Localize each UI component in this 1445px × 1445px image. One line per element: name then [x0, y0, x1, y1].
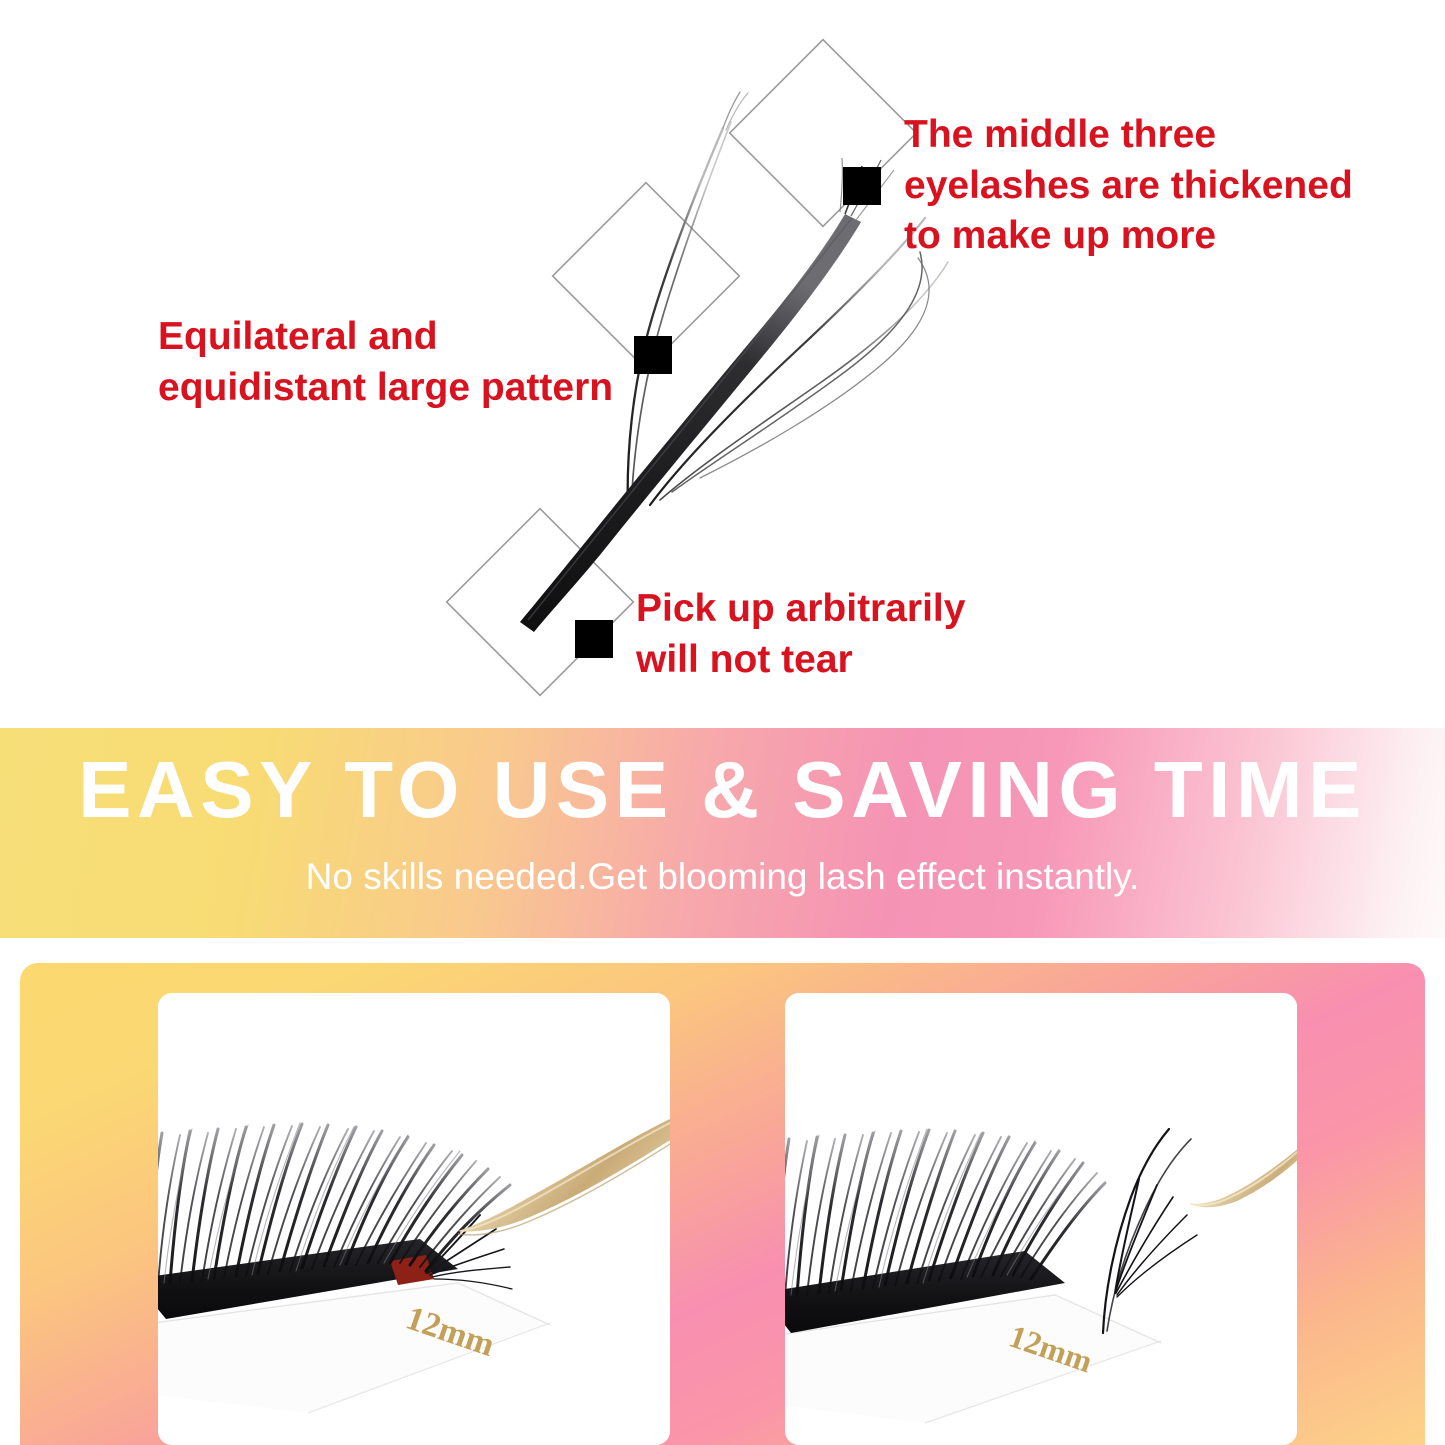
callout-line: Equilateral and: [158, 312, 613, 363]
diamond-outline-icon-top: [730, 40, 917, 227]
banner-subheadline: No skills needed.Get blooming lash effec…: [0, 858, 1445, 895]
callout-line: to make up more: [904, 211, 1353, 262]
callout-line: eyelashes are thickened: [904, 161, 1353, 212]
lash-strip-photo-right: 12mm: [785, 993, 1297, 1445]
callout-line: Pick up arbitrarily: [636, 584, 965, 635]
banner-headline: EASY TO USE & SAVING TIME: [0, 750, 1445, 830]
callout-line: The middle three: [904, 110, 1353, 161]
callout-marker-middle: [634, 336, 672, 374]
callout-text-no-tear: Pick up arbitrarily will not tear: [636, 584, 965, 685]
callout-marker-top: [843, 167, 881, 205]
callout-text-equilateral: Equilateral and equidistant large patter…: [158, 312, 613, 413]
product-photo-panel: 12mm: [20, 963, 1425, 1445]
callout-text-thickened: The middle three eyelashes are thickened…: [904, 110, 1353, 262]
product-photo-card-right: 12mm: [785, 993, 1297, 1445]
product-photo-card-left: 12mm: [158, 993, 670, 1445]
lash-strip-photo-left: 12mm: [158, 993, 670, 1445]
promo-banner-section: EASY TO USE & SAVING TIME No skills need…: [0, 728, 1445, 938]
lash-feature-diagram-section: The middle three eyelashes are thickened…: [0, 0, 1445, 728]
callout-line: equidistant large pattern: [158, 363, 613, 414]
callout-line: will not tear: [636, 635, 965, 686]
callout-marker-bottom: [575, 620, 613, 658]
